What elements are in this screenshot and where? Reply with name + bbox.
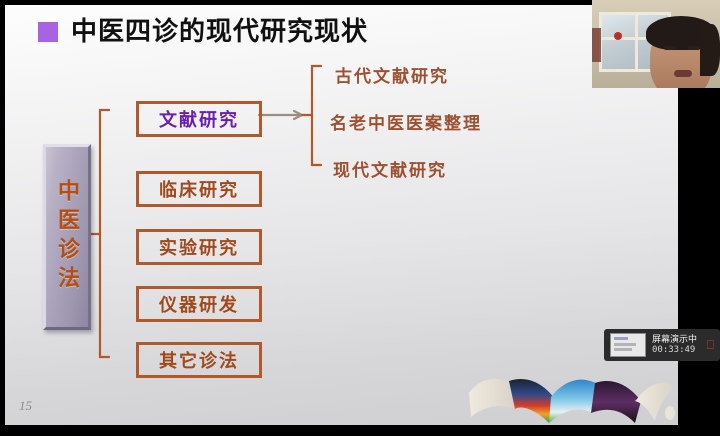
bullet-square-icon (38, 22, 58, 42)
presentation-slide: 中医四诊的现代研究现状 中医诊法 文献研究 临床研究 (5, 5, 678, 425)
branch-label-3: 实验研究 (159, 234, 239, 260)
branch-label-1: 文献研究 (159, 106, 239, 132)
sub-branch-label-3: 现代文献研究 (333, 156, 447, 181)
stop-share-icon[interactable]: ⎕ (707, 338, 714, 353)
share-status-label: 屏幕演示中 (652, 335, 697, 345)
screen-share-indicator[interactable]: 屏幕演示中 00:33:49 ⎕ (604, 329, 720, 361)
branch-box-4: 仪器研发 (136, 286, 262, 322)
participant-eye-left (664, 46, 676, 50)
share-text-group: 屏幕演示中 00:33:49 (652, 335, 697, 355)
branch-label-4: 仪器研发 (159, 291, 239, 317)
branch-box-1: 文献研究 (136, 101, 262, 137)
participant-eye-right (688, 46, 700, 50)
branch-box-5: 其它诊法 (136, 342, 262, 378)
root-node-label: 中医诊法 (51, 179, 83, 295)
root-node-box: 中医诊法 (43, 144, 91, 330)
branch-label-5: 其它诊法 (159, 347, 239, 373)
webcam-overlay[interactable] (592, 0, 720, 88)
ribbon-decoration-icon (465, 365, 678, 425)
screen-share-viewport: 中医四诊的现代研究现状 中医诊法 文献研究 临床研究 (0, 0, 720, 436)
slide-page-number: 15 (19, 398, 32, 414)
participant-mouth (674, 70, 692, 77)
window-decal-1-icon (614, 32, 622, 40)
branch-box-2: 临床研究 (136, 171, 262, 207)
share-thumbnail-icon (610, 333, 646, 357)
slide-title-row: 中医四诊的现代研究现状 (38, 19, 368, 45)
branch-label-2: 临床研究 (159, 176, 239, 202)
page-title: 中医四诊的现代研究现状 (71, 19, 368, 45)
sub-branch-label-2: 名老中医医案整理 (330, 109, 482, 134)
sub-branch-label-1: 古代文献研究 (335, 62, 449, 87)
drape-shape (592, 28, 601, 62)
share-timer: 00:33:49 (652, 345, 697, 355)
branch-box-3: 实验研究 (136, 229, 262, 265)
participant-hair-side (700, 24, 720, 76)
